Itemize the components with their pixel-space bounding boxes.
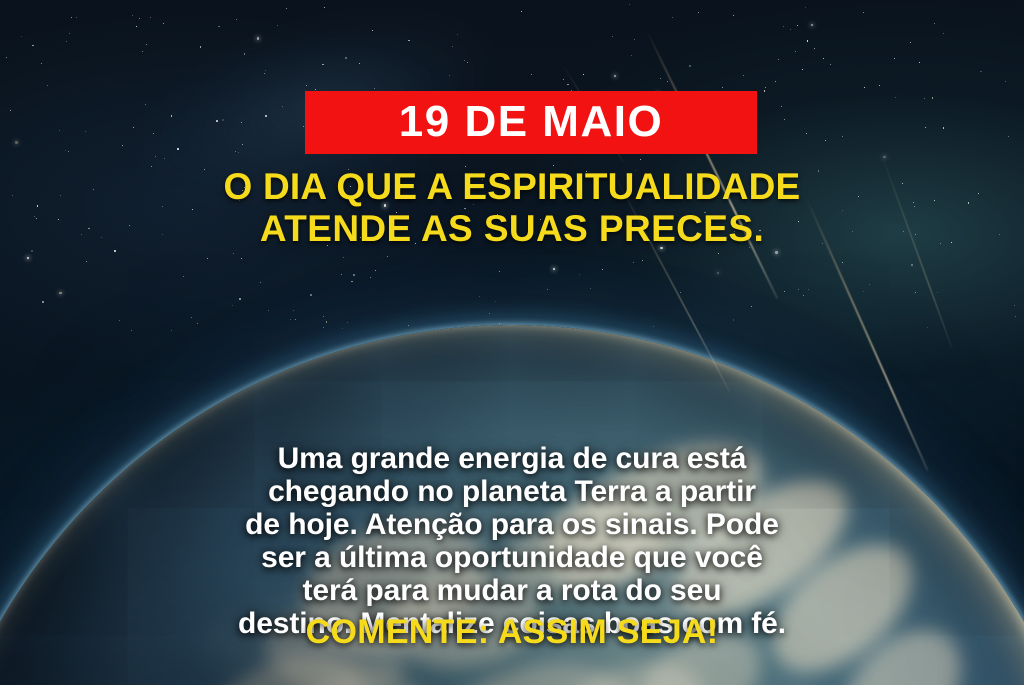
body-line: Uma grande energia de cura está: [0, 444, 1024, 474]
poster-canvas: 19 DE MAIO O DIA QUE A ESPIRITUALIDADE A…: [0, 0, 1024, 685]
body-line: ser a última oportunidade que você: [0, 543, 1024, 573]
headline-line-2: ATENDE AS SUAS PRECES.: [0, 208, 1024, 250]
call-to-action-text: COMENTE: ASSIM SEJA!: [0, 613, 1024, 652]
headline-line-1: O DIA QUE A ESPIRITUALIDADE: [0, 166, 1024, 208]
body-line: de hoje. Atenção para os sinais. Pode: [0, 510, 1024, 540]
body-line: terá para mudar a rota do seu: [0, 576, 1024, 606]
body-line: chegando no planeta Terra a partir: [0, 477, 1024, 507]
headline: O DIA QUE A ESPIRITUALIDADE ATENDE AS SU…: [0, 166, 1024, 250]
date-banner: 19 DE MAIO: [305, 91, 757, 154]
date-banner-label: 19 DE MAIO: [399, 100, 663, 144]
